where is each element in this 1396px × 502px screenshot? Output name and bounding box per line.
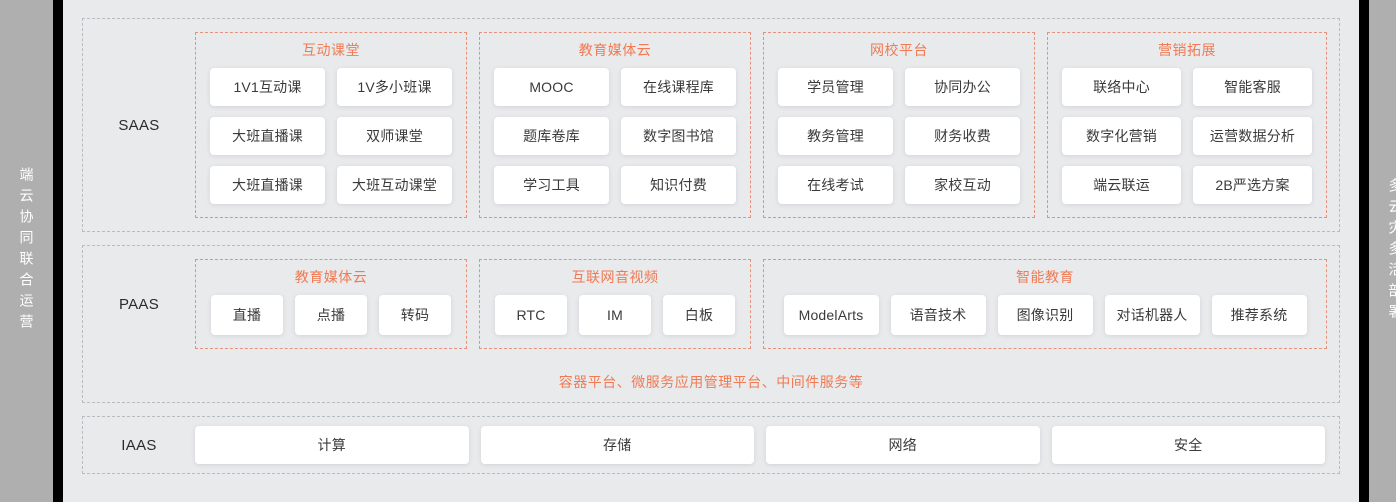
layer-body-saas: 互动课堂 1V1互动课 1V多小班课 大班直播课 双师课堂 大班直播课 大班互动 bbox=[195, 19, 1339, 231]
service-card[interactable]: 白板 bbox=[663, 295, 735, 335]
layer-iaas: IAAS 计算 存储 网络 安全 bbox=[82, 416, 1340, 474]
layer-label-iaas: IAAS bbox=[83, 417, 195, 473]
service-card[interactable]: 转码 bbox=[379, 295, 451, 335]
group-internet-audio-video: 互联网音视频 RTC IM 白板 bbox=[479, 259, 751, 349]
service-card[interactable]: 安全 bbox=[1052, 426, 1326, 464]
service-card[interactable]: 协同办公 bbox=[905, 68, 1020, 106]
service-card[interactable]: 直播 bbox=[211, 295, 283, 335]
group-row: 教务管理 财务收费 bbox=[778, 117, 1020, 155]
left-rail-divider bbox=[53, 0, 63, 502]
layer-saas: SAAS 互动课堂 1V1互动课 1V多小班课 大班直播课 双师课堂 bbox=[82, 18, 1340, 232]
service-card[interactable]: 联络中心 bbox=[1062, 68, 1181, 106]
group-title: 营销拓展 bbox=[1158, 40, 1216, 60]
paas-main: PAAS 教育媒体云 直播 点播 转码 互联网音视频 bbox=[83, 246, 1339, 362]
service-card[interactable]: ModelArts bbox=[784, 295, 879, 335]
right-rail: 多云灾多活部署 bbox=[1369, 0, 1396, 502]
paas-footer-note: 容器平台、微服务应用管理平台、中间件服务等 bbox=[83, 362, 1339, 402]
service-card[interactable]: 智能客服 bbox=[1193, 68, 1312, 106]
group-row: 大班直播课 大班互动课堂 bbox=[210, 166, 452, 204]
service-card[interactable]: MOOC bbox=[494, 68, 609, 106]
service-card[interactable]: 2B严选方案 bbox=[1193, 166, 1312, 204]
service-card[interactable]: 大班互动课堂 bbox=[337, 166, 452, 204]
layers-container: SAAS 互动课堂 1V1互动课 1V多小班课 大班直播课 双师课堂 bbox=[63, 0, 1359, 502]
group-title: 互联网音视频 bbox=[572, 267, 659, 287]
layer-label-saas: SAAS bbox=[83, 19, 195, 231]
service-card[interactable]: 大班直播课 bbox=[210, 166, 325, 204]
group-row: 数字化营销 运营数据分析 bbox=[1062, 117, 1312, 155]
group-title: 教育媒体云 bbox=[579, 40, 652, 60]
group-row: 在线考试 家校互动 bbox=[778, 166, 1020, 204]
group-intelligent-education: 智能教育 ModelArts 语音技术 图像识别 对话机器人 推荐系统 bbox=[763, 259, 1327, 349]
service-card[interactable]: 点播 bbox=[295, 295, 367, 335]
service-card[interactable]: 语音技术 bbox=[891, 295, 986, 335]
service-card[interactable]: 数字化营销 bbox=[1062, 117, 1181, 155]
group-interactive-classroom: 互动课堂 1V1互动课 1V多小班课 大班直播课 双师课堂 大班直播课 大班互动 bbox=[195, 32, 467, 218]
service-card[interactable]: 1V多小班课 bbox=[337, 68, 452, 106]
group-row: ModelArts 语音技术 图像识别 对话机器人 推荐系统 bbox=[778, 295, 1312, 335]
service-card[interactable]: 网络 bbox=[766, 426, 1040, 464]
service-card[interactable]: 计算 bbox=[195, 426, 469, 464]
service-card[interactable]: 学习工具 bbox=[494, 166, 609, 204]
service-card[interactable]: 1V1互动课 bbox=[210, 68, 325, 106]
layer-body-paas: 教育媒体云 直播 点播 转码 互联网音视频 bbox=[195, 246, 1339, 362]
service-card[interactable]: 双师课堂 bbox=[337, 117, 452, 155]
group-grid: 学员管理 协同办公 教务管理 财务收费 在线考试 家校互动 bbox=[778, 68, 1020, 204]
service-card[interactable]: 对话机器人 bbox=[1105, 295, 1200, 335]
group-row: MOOC 在线课程库 bbox=[494, 68, 736, 106]
service-card[interactable]: 大班直播课 bbox=[210, 117, 325, 155]
group-row: 联络中心 智能客服 bbox=[1062, 68, 1312, 106]
group-row: RTC IM 白板 bbox=[494, 295, 736, 335]
service-card[interactable]: 题库卷库 bbox=[494, 117, 609, 155]
service-card[interactable]: 数字图书馆 bbox=[621, 117, 736, 155]
group-title: 智能教育 bbox=[1016, 267, 1074, 287]
service-card[interactable]: 家校互动 bbox=[905, 166, 1020, 204]
group-row: 端云联运 2B严选方案 bbox=[1062, 166, 1312, 204]
architecture-diagram: 端云协同联合运营 SAAS 互动课堂 1V1互动课 1V多小班课 大班直播课 bbox=[0, 0, 1396, 502]
right-rail-divider bbox=[1359, 0, 1369, 502]
group-row: 题库卷库 数字图书馆 bbox=[494, 117, 736, 155]
service-card[interactable]: 图像识别 bbox=[998, 295, 1093, 335]
service-card[interactable]: 知识付费 bbox=[621, 166, 736, 204]
group-grid: 直播 点播 转码 bbox=[210, 295, 452, 335]
group-title: 网校平台 bbox=[870, 40, 928, 60]
group-grid: 联络中心 智能客服 数字化营销 运营数据分析 端云联运 2B严选方案 bbox=[1062, 68, 1312, 204]
service-card[interactable]: 存储 bbox=[481, 426, 755, 464]
group-title: 互动课堂 bbox=[302, 40, 360, 60]
group-marketing-expansion: 营销拓展 联络中心 智能客服 数字化营销 运营数据分析 端云联运 2B严选方案 bbox=[1047, 32, 1327, 218]
group-row: 大班直播课 双师课堂 bbox=[210, 117, 452, 155]
service-card[interactable]: RTC bbox=[495, 295, 567, 335]
left-rail: 端云协同联合运营 bbox=[0, 0, 53, 502]
service-card[interactable]: 运营数据分析 bbox=[1193, 117, 1312, 155]
group-row: 学员管理 协同办公 bbox=[778, 68, 1020, 106]
service-card[interactable]: 学员管理 bbox=[778, 68, 893, 106]
service-card[interactable]: 端云联运 bbox=[1062, 166, 1181, 204]
group-row: 1V1互动课 1V多小班课 bbox=[210, 68, 452, 106]
service-card[interactable]: 在线课程库 bbox=[621, 68, 736, 106]
service-card[interactable]: IM bbox=[579, 295, 651, 335]
group-row: 学习工具 知识付费 bbox=[494, 166, 736, 204]
group-grid: ModelArts 语音技术 图像识别 对话机器人 推荐系统 bbox=[778, 295, 1312, 335]
service-card[interactable]: 推荐系统 bbox=[1212, 295, 1307, 335]
group-grid: 1V1互动课 1V多小班课 大班直播课 双师课堂 大班直播课 大班互动课堂 bbox=[210, 68, 452, 204]
group-education-media-cloud: 教育媒体云 MOOC 在线课程库 题库卷库 数字图书馆 学习工具 知识付费 bbox=[479, 32, 751, 218]
group-paas-education-media-cloud: 教育媒体云 直播 点播 转码 bbox=[195, 259, 467, 349]
group-online-school-platform: 网校平台 学员管理 协同办公 教务管理 财务收费 在线考试 家校互动 bbox=[763, 32, 1035, 218]
group-grid: RTC IM 白板 bbox=[494, 295, 736, 335]
group-title: 教育媒体云 bbox=[295, 267, 368, 287]
service-card[interactable]: 在线考试 bbox=[778, 166, 893, 204]
layer-paas: PAAS 教育媒体云 直播 点播 转码 互联网音视频 bbox=[82, 245, 1340, 403]
service-card[interactable]: 财务收费 bbox=[905, 117, 1020, 155]
group-row: 直播 点播 转码 bbox=[210, 295, 452, 335]
layer-label-paas: PAAS bbox=[83, 246, 195, 362]
left-rail-label: 端云协同联合运营 bbox=[20, 167, 34, 335]
service-card[interactable]: 教务管理 bbox=[778, 117, 893, 155]
right-rail-label: 多云灾多活部署 bbox=[1389, 178, 1396, 325]
layer-body-iaas: 计算 存储 网络 安全 bbox=[195, 417, 1339, 473]
group-grid: MOOC 在线课程库 题库卷库 数字图书馆 学习工具 知识付费 bbox=[494, 68, 736, 204]
